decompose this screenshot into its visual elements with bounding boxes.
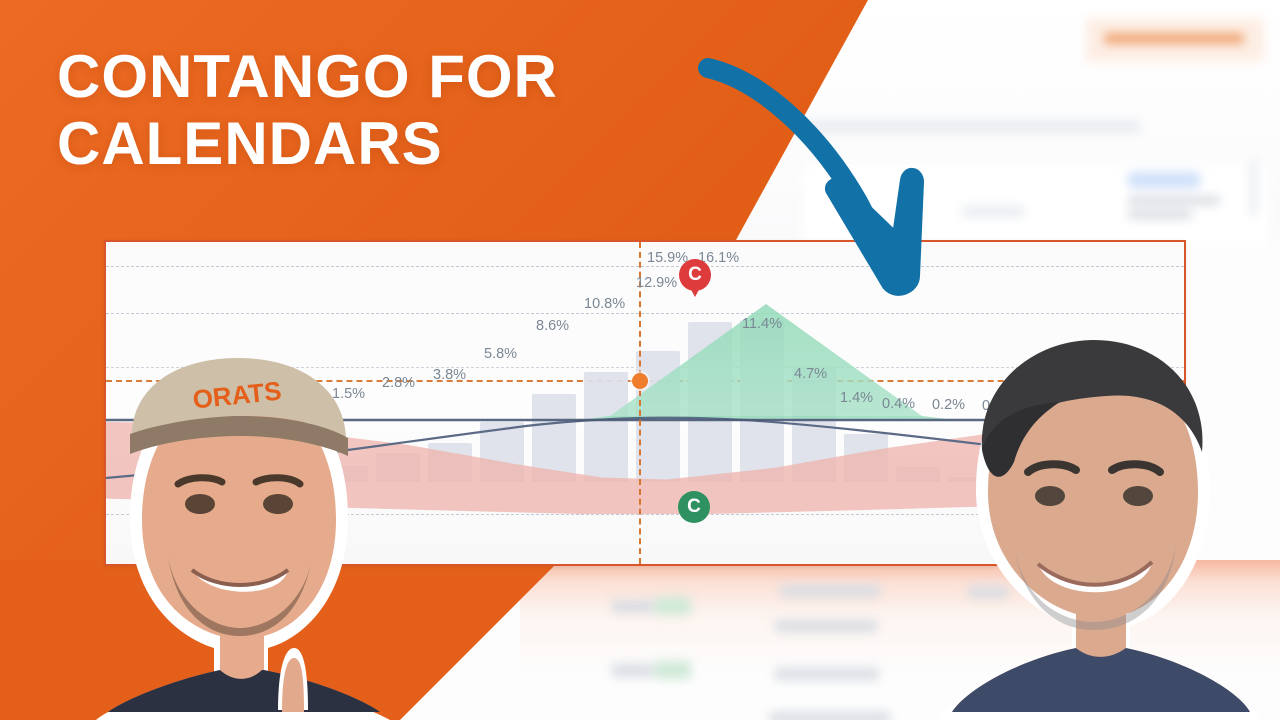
bg-cell	[775, 668, 879, 680]
bg-badge	[1128, 172, 1200, 188]
headline-line-2: CALENDARS	[57, 113, 737, 174]
bg-cell	[775, 620, 877, 632]
bg-cta-text	[1104, 33, 1244, 44]
bg-panel-line	[1128, 210, 1192, 219]
bg-row-badge	[655, 597, 691, 615]
pin-label: C	[678, 491, 710, 523]
bg-panel-line	[1128, 196, 1220, 205]
bar-value-label: 3.8%	[433, 367, 466, 383]
bar-value-label: 1.4%	[840, 390, 873, 406]
put-strike-pin[interactable]: C	[678, 491, 710, 529]
presenter-right-avatar	[930, 300, 1260, 720]
bg-row-badge	[655, 661, 691, 679]
presenter-left-avatar: ORATS	[72, 318, 402, 720]
crosshair-marker-dot[interactable]	[632, 373, 648, 389]
bg-cell	[780, 585, 880, 597]
bg-row-label	[612, 600, 654, 613]
bg-row-label	[612, 664, 654, 677]
bg-scroll-hint	[1250, 160, 1257, 216]
bar-value-label: 8.6%	[536, 318, 569, 334]
bar-value-label: 4.7%	[794, 366, 827, 382]
thumbnail-canvas: CONTANGO FOR CALENDARS	[0, 0, 1280, 720]
bg-panel-label	[962, 206, 1024, 217]
pointing-hand	[278, 648, 308, 712]
headline-line-1: CONTANGO FOR	[57, 43, 558, 110]
bar-value-label: 10.8%	[584, 296, 625, 312]
pointer-arrow-icon	[690, 40, 950, 320]
bg-cell	[770, 712, 890, 720]
bar-value-label: 12.9%	[636, 275, 677, 291]
gridline	[106, 266, 1184, 267]
page-title: CONTANGO FOR CALENDARS	[57, 46, 737, 174]
bar-value-label: 5.8%	[484, 346, 517, 362]
bar-value-label: 0.4%	[882, 396, 915, 412]
